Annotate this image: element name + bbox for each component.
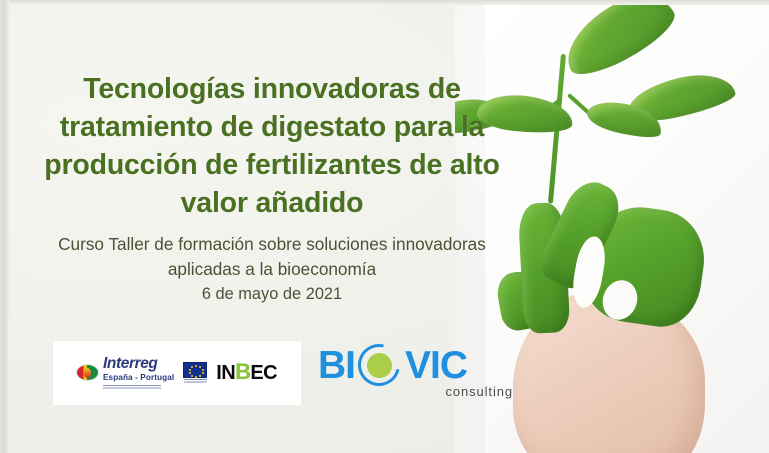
subtitle-line-2: aplicadas a la bioeconomía [12, 257, 532, 282]
interreg-logo: Interreg España - Portugal [77, 356, 174, 389]
biovic-o-icon [356, 344, 404, 386]
subtitle-line-1: Curso Taller de formación sobre solucion… [12, 232, 532, 257]
slide-top-edge [0, 0, 769, 5]
title-line-4: valor añadido [12, 184, 532, 222]
presentation-title-slide: Tecnologías innovadoras de tratamiento d… [0, 0, 769, 453]
interreg-wordmark: Interreg España - Portugal [103, 356, 174, 389]
biovic-logo: BI VIC consulting [318, 344, 523, 406]
title-line-1: Tecnologías innovadoras de [12, 70, 532, 108]
eu-logo [183, 362, 207, 385]
eu-fineprint [184, 379, 207, 384]
inbec-b-glyph: B [235, 359, 250, 385]
title-line-3: producción de fertilizantes de alto [12, 146, 532, 184]
interreg-region: España - Portugal [103, 374, 174, 382]
slide-subtitle: Curso Taller de formación sobre solucion… [12, 232, 532, 282]
slide-left-edge [0, 0, 9, 453]
sponsor-logo-band: Interreg España - Portugal IN B [53, 341, 301, 405]
slide-title: Tecnologías innovadoras de tratamiento d… [12, 70, 532, 222]
eu-flag-icon [183, 362, 207, 378]
title-line-2: tratamiento de digestato para la [12, 108, 532, 146]
interreg-circle-icon [77, 365, 98, 380]
inbec-logo: IN B EC [216, 360, 277, 386]
biovic-dot [367, 353, 392, 378]
inbec-suffix: EC [250, 362, 277, 385]
inbec-prefix: IN [216, 362, 235, 385]
biovic-wordmark: BI VIC [318, 344, 523, 386]
interreg-name: Interreg [103, 356, 174, 372]
biovic-suffix: VIC [405, 346, 467, 385]
interreg-fineprint [103, 385, 161, 390]
biovic-prefix: BI [318, 346, 355, 385]
slide-date: 6 de mayo de 2021 [12, 285, 532, 304]
